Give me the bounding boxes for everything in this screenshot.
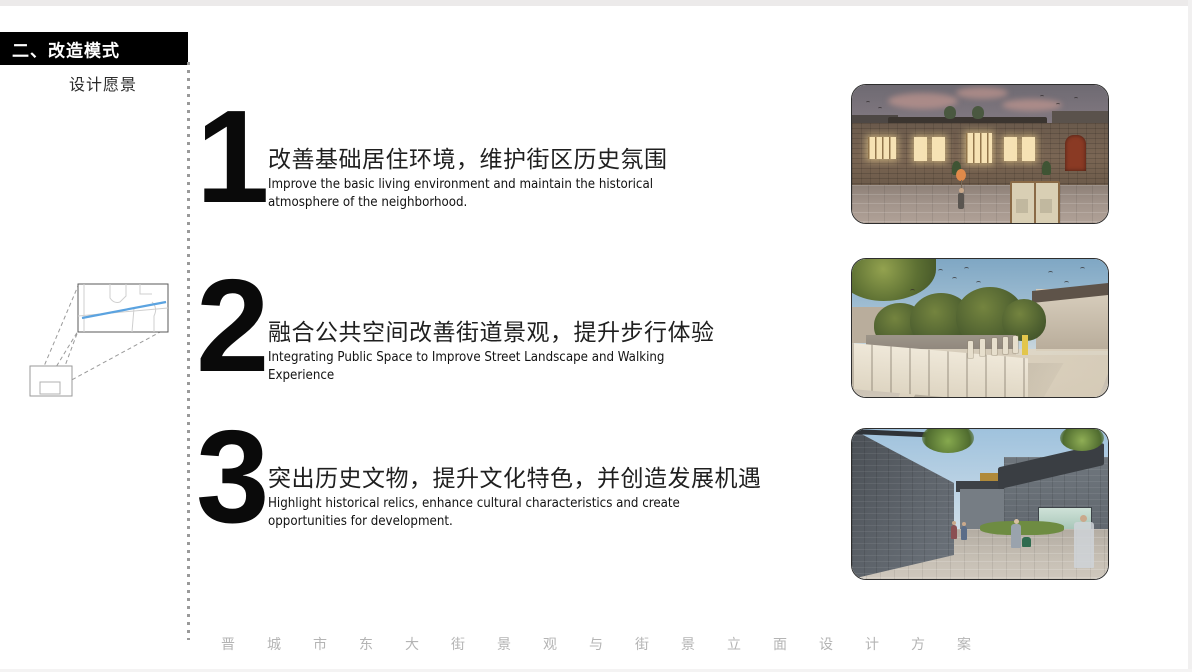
photo-2-bird [910, 289, 915, 293]
photo-1-child-body [958, 193, 964, 209]
photo-1-lit-window [932, 137, 945, 161]
photo-1-bird [1040, 95, 1044, 98]
photo-2-bird [1048, 271, 1053, 275]
photo-1-lit-window [868, 137, 896, 159]
point-2-text: 融合公共空间改善街道景观，提升步行体验 Integrating Public S… [268, 320, 715, 385]
rendering-grey-brick-alley [851, 428, 1109, 580]
photo-1-roof-plant [972, 106, 984, 119]
photo-3-canvas [852, 429, 1108, 579]
slide: 二、改造模式 设计愿景 [0, 0, 1192, 672]
point-2-headline-en: Integrating Public Space to Improve Stre… [268, 349, 715, 385]
photo-2-bird [1064, 281, 1069, 285]
photo-3-shopping-bag [1022, 537, 1031, 547]
photo-1-roof-plant [944, 106, 956, 119]
footer-project-title: 晋城市东大街景观与街景立面设计方案 [0, 634, 1192, 654]
photo-1-bird [1056, 103, 1060, 106]
photo-2-bollard [1003, 337, 1008, 354]
photo-1-window-mullions [868, 137, 896, 159]
photo-1-bird [866, 101, 870, 104]
point-3-headline-cn: 突出历史文物，提升文化特色，并创造发展机遇 [268, 466, 762, 493]
photo-2-canvas [852, 259, 1108, 397]
photo-3-foreground-person [1074, 522, 1094, 568]
point-2-headline-cn: 融合公共空间改善街道景观，提升步行体验 [268, 320, 715, 347]
photo-3-pedestrian [951, 525, 957, 539]
point-1-headline-en: Improve the basic living environment and… [268, 176, 668, 212]
slide-right-edge [1188, 0, 1192, 672]
photo-1-lit-doorway [966, 133, 992, 163]
rendering-daytime-tree-lined-street [851, 258, 1109, 398]
photo-1-bird [878, 107, 882, 110]
photo-2-bollard [992, 338, 997, 355]
rendering-evening-courtyard-street [851, 84, 1109, 224]
section-title-bar: 二、改造模式 [0, 32, 188, 65]
point-1-headline-cn: 改善基础居住环境，维护街区历史氛围 [268, 147, 668, 174]
point-1-numeral: 1 [196, 103, 265, 211]
point-3-text: 突出历史文物，提升文化特色，并创造发展机遇 Highlight historic… [268, 466, 762, 531]
photo-1-canvas [852, 85, 1108, 223]
locator-overview-highlight [40, 382, 60, 394]
photo-1-cloud [1002, 99, 1062, 111]
photo-2-bollard [1013, 336, 1018, 353]
section-subtitle: 设计愿景 [0, 71, 137, 95]
point-1-text: 改善基础居住环境，维护街区历史氛围 Improve the basic livi… [268, 147, 668, 212]
photo-3-pedestrian-man [1011, 524, 1021, 548]
photo-1-bird [1074, 97, 1078, 100]
site-location-diagram [22, 278, 177, 398]
point-3-headline-en: Highlight historical relics, enhance cul… [268, 495, 762, 531]
photo-2-bird [938, 269, 943, 273]
photo-1-signboard [1034, 181, 1060, 223]
photo-2-bird [976, 281, 981, 285]
photo-3-foreground-person-head [1080, 515, 1087, 522]
photo-1-lit-window [1004, 137, 1017, 161]
photo-1-lit-window [1022, 137, 1035, 161]
locator-svg [22, 278, 177, 398]
section-title-label: 二、改造模式 [12, 36, 120, 61]
photo-2-street-sign [1022, 335, 1028, 355]
photo-2-bird [964, 267, 969, 271]
point-3-numeral: 3 [196, 423, 265, 531]
photo-1-lit-window [914, 137, 927, 161]
photo-3-lawn [980, 521, 1064, 535]
photo-1-window-mullions [966, 133, 992, 163]
photo-2-bird [1080, 267, 1085, 271]
point-2-numeral: 2 [196, 272, 265, 380]
photo-3-pedestrian [961, 526, 967, 540]
photo-2-bollard [980, 339, 985, 356]
photo-1-cloud [956, 87, 1008, 99]
photo-1-paving [852, 185, 1108, 223]
photo-1-shrub [1042, 161, 1051, 175]
photo-2-bird [952, 277, 957, 281]
slide-top-edge [0, 0, 1192, 6]
photo-2-bollard [968, 341, 973, 358]
photo-1-signboard [1010, 181, 1036, 223]
photo-1-wooden-door [1065, 135, 1086, 171]
vertical-dotted-divider [187, 62, 190, 640]
